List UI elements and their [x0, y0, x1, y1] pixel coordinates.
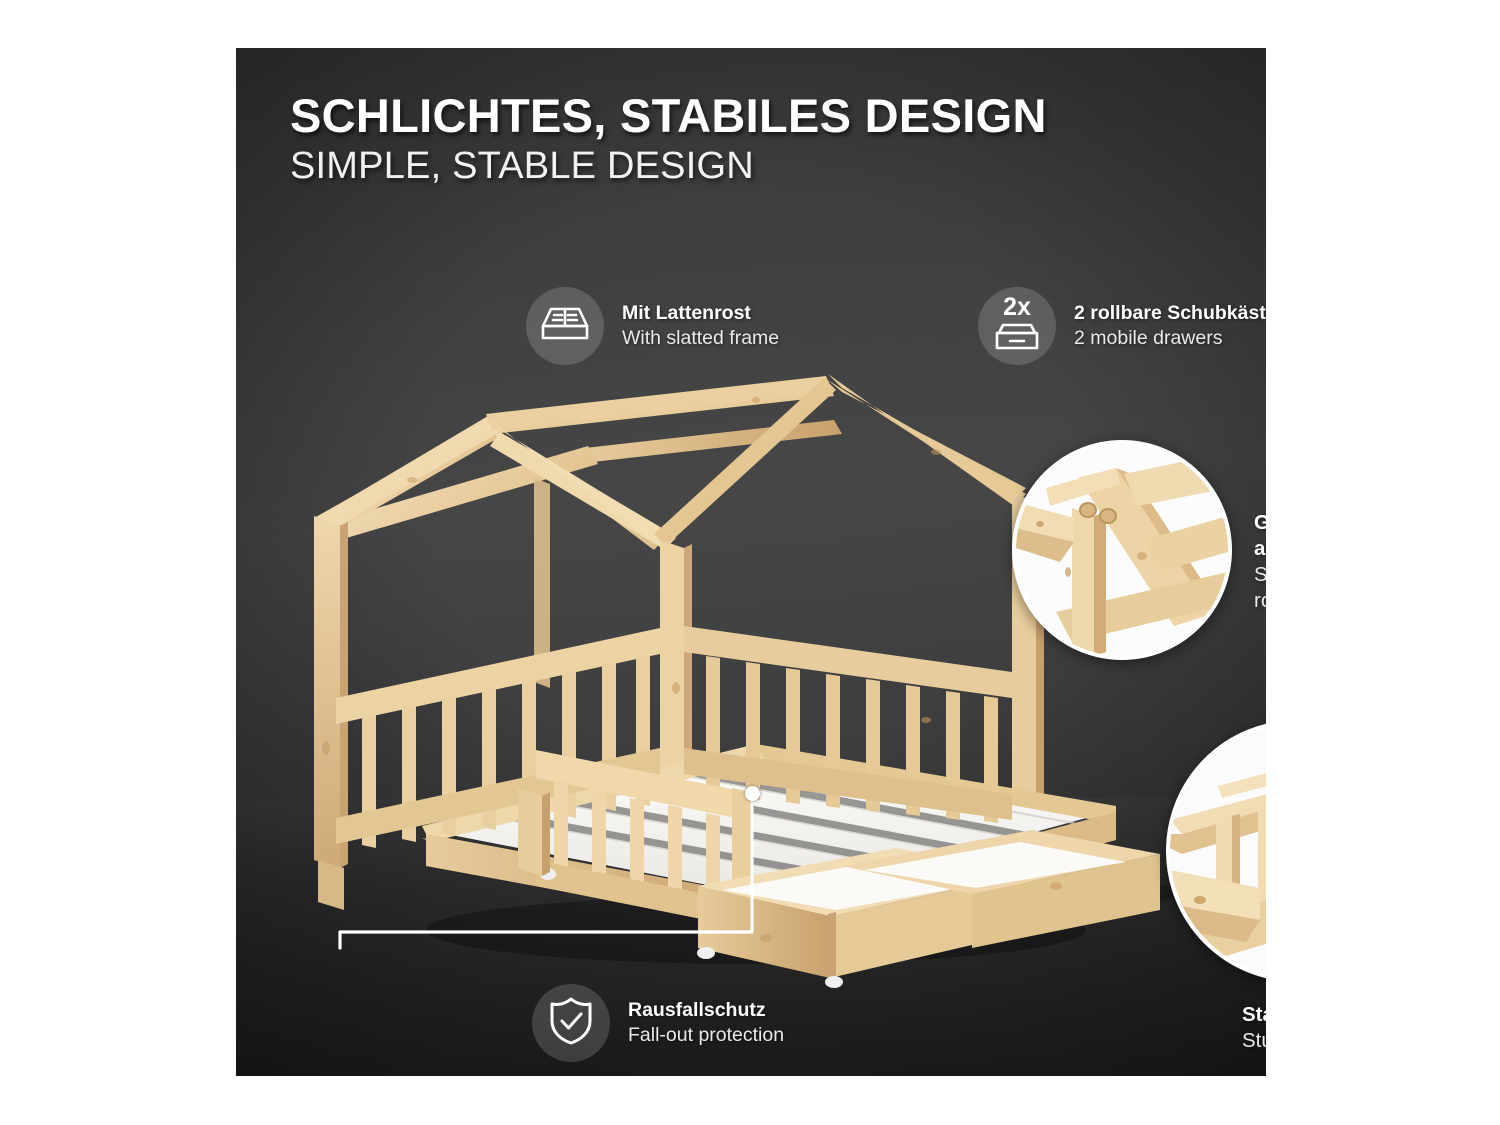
callout-smooth-edges	[1012, 440, 1232, 660]
page-title-en: SIMPLE, STABLE DESIGN	[290, 145, 1047, 188]
callout-label-en-2: rounded corners	[1254, 588, 1266, 614]
callout-label-de-1: Glatte Ränder und	[1254, 510, 1266, 536]
callout-label-de-2: abgerundete Ecken	[1254, 536, 1266, 562]
drawer-count-badge: 2x	[993, 295, 1041, 320]
callout-text-smooth-edges: Glatte Ränder und abgerundete Ecken Smoo…	[1254, 510, 1266, 614]
slatted-frame-icon	[539, 302, 591, 351]
feature-label-en: 2 mobile drawers	[1074, 326, 1266, 351]
shield-check-icon	[548, 996, 594, 1051]
feature-text: 2 rollbare Schubkästen 2 mobile drawers	[1074, 301, 1266, 352]
feature-fall-out-protection: Rausfallschutz Fall-out protection	[532, 984, 784, 1062]
feature-mobile-drawers: 2x 2 rollbare Schubkästen 2 mobile drawe…	[978, 287, 1266, 365]
product-panel: SCHLICHTES, STABILES DESIGN SIMPLE, STAB…	[236, 48, 1266, 1076]
feature-label-de: 2 rollbare Schubkästen	[1074, 301, 1266, 326]
feature-text: Rausfallschutz Fall-out protection	[628, 998, 784, 1049]
feature-text: Mit Lattenrost With slatted frame	[622, 301, 779, 352]
feature-icon-circle: 2x	[978, 287, 1056, 365]
feature-label-de: Rausfallschutz	[628, 998, 784, 1023]
callout-label-en-1: Smooth edges and	[1254, 562, 1266, 588]
callout-label-de: Stabile Konstruktion	[1242, 1002, 1266, 1028]
callout-text-sturdy-construction: Stabile Konstruktion Sturdy Construction	[1242, 1002, 1266, 1054]
feature-icon-circle	[526, 287, 604, 365]
feature-icon-circle	[532, 984, 610, 1062]
feature-label-de: Mit Lattenrost	[622, 301, 779, 326]
feature-label-en: With slatted frame	[622, 326, 779, 351]
feature-slatted-frame: Mit Lattenrost With slatted frame	[526, 287, 779, 365]
page-title-de: SCHLICHTES, STABILES DESIGN	[290, 92, 1047, 141]
drawer-icon: 2x	[993, 295, 1041, 357]
infographic-stage: SCHLICHTES, STABILES DESIGN SIMPLE, STAB…	[0, 0, 1500, 1125]
wood-joint-closeup	[1016, 444, 1228, 656]
callout-label-en: Sturdy Construction	[1242, 1028, 1266, 1054]
heading-block: SCHLICHTES, STABILES DESIGN SIMPLE, STAB…	[290, 92, 1047, 187]
callout-pointer-dot	[745, 786, 760, 801]
feature-label-en: Fall-out protection	[628, 1023, 784, 1048]
